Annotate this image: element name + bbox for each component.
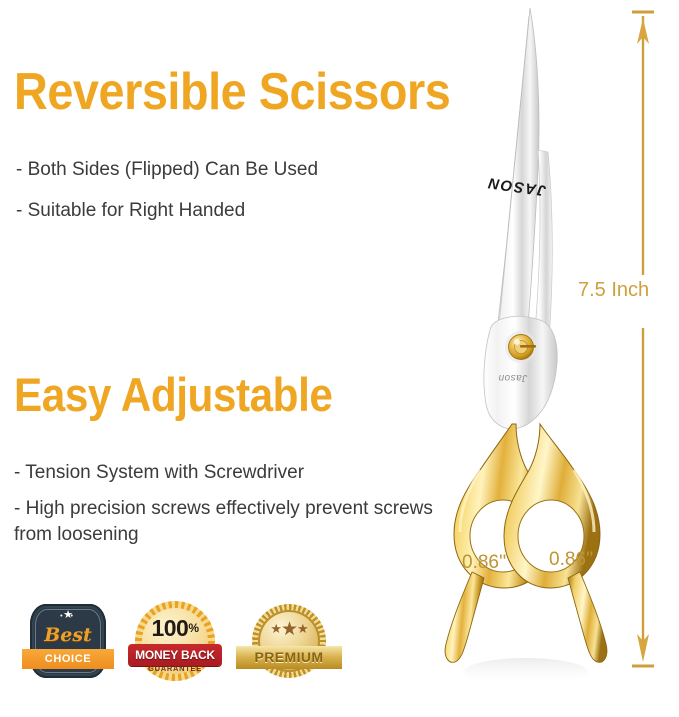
bullet-both-sides: - Both Sides (Flipped) Can Be Used — [16, 157, 318, 183]
headline-reversible-scissors: Reversible Scissors — [14, 64, 450, 120]
right-tang — [568, 572, 607, 662]
badge-premium: ★★★ PREMIUM — [236, 602, 342, 682]
brand-logo-mark: Jason — [498, 372, 527, 383]
screw-slot — [520, 345, 536, 348]
product-feature-image: JASON Jason 0.86'' 0.86'' 7.5 Inch Rever… — [0, 0, 679, 717]
bullet-high-precision-screws: - High precision screws effectively prev… — [14, 496, 454, 548]
premium-ribbon: PREMIUM — [236, 646, 342, 669]
best-choice-dots-icon: • • — [22, 613, 114, 621]
length-dimension-arrow — [628, 10, 658, 670]
money-back-percent: 100% — [128, 616, 222, 640]
scissors-illustration — [420, 0, 640, 690]
premium-stars-icon: ★★★ — [258, 622, 320, 637]
headline-easy-adjustable: Easy Adjustable — [14, 369, 332, 421]
bullet-tension-system: - Tension System with Screwdriver — [14, 460, 304, 486]
money-back-percent-symbol: % — [188, 621, 198, 635]
left-tang — [445, 572, 484, 662]
trust-badges-row: ★ • • Best CHOICE 100% MONEY BACK GUARAN… — [22, 600, 352, 682]
money-back-percent-number: 100 — [151, 615, 188, 641]
badge-money-back: 100% MONEY BACK GUARANTEE — [128, 600, 222, 682]
right-ring-size-label: 0.86'' — [549, 549, 593, 571]
reflection — [464, 658, 588, 686]
best-choice-best-text: Best — [22, 624, 114, 646]
left-ring-size-label: 0.86'' — [462, 552, 506, 574]
best-choice-ribbon: CHOICE — [22, 649, 114, 669]
money-back-band: MONEY BACK — [128, 644, 222, 666]
best-choice-ribbon-text: CHOICE — [22, 649, 114, 669]
premium-ribbon-text: PREMIUM — [236, 646, 342, 669]
bullet-right-handed: - Suitable for Right Handed — [16, 198, 245, 224]
money-back-band-text: MONEY BACK — [128, 644, 222, 666]
badge-best-choice: ★ • • Best CHOICE — [22, 602, 114, 682]
length-label: 7.5 Inch — [578, 278, 649, 302]
money-back-guarantee-text: GUARANTEE — [128, 664, 222, 674]
